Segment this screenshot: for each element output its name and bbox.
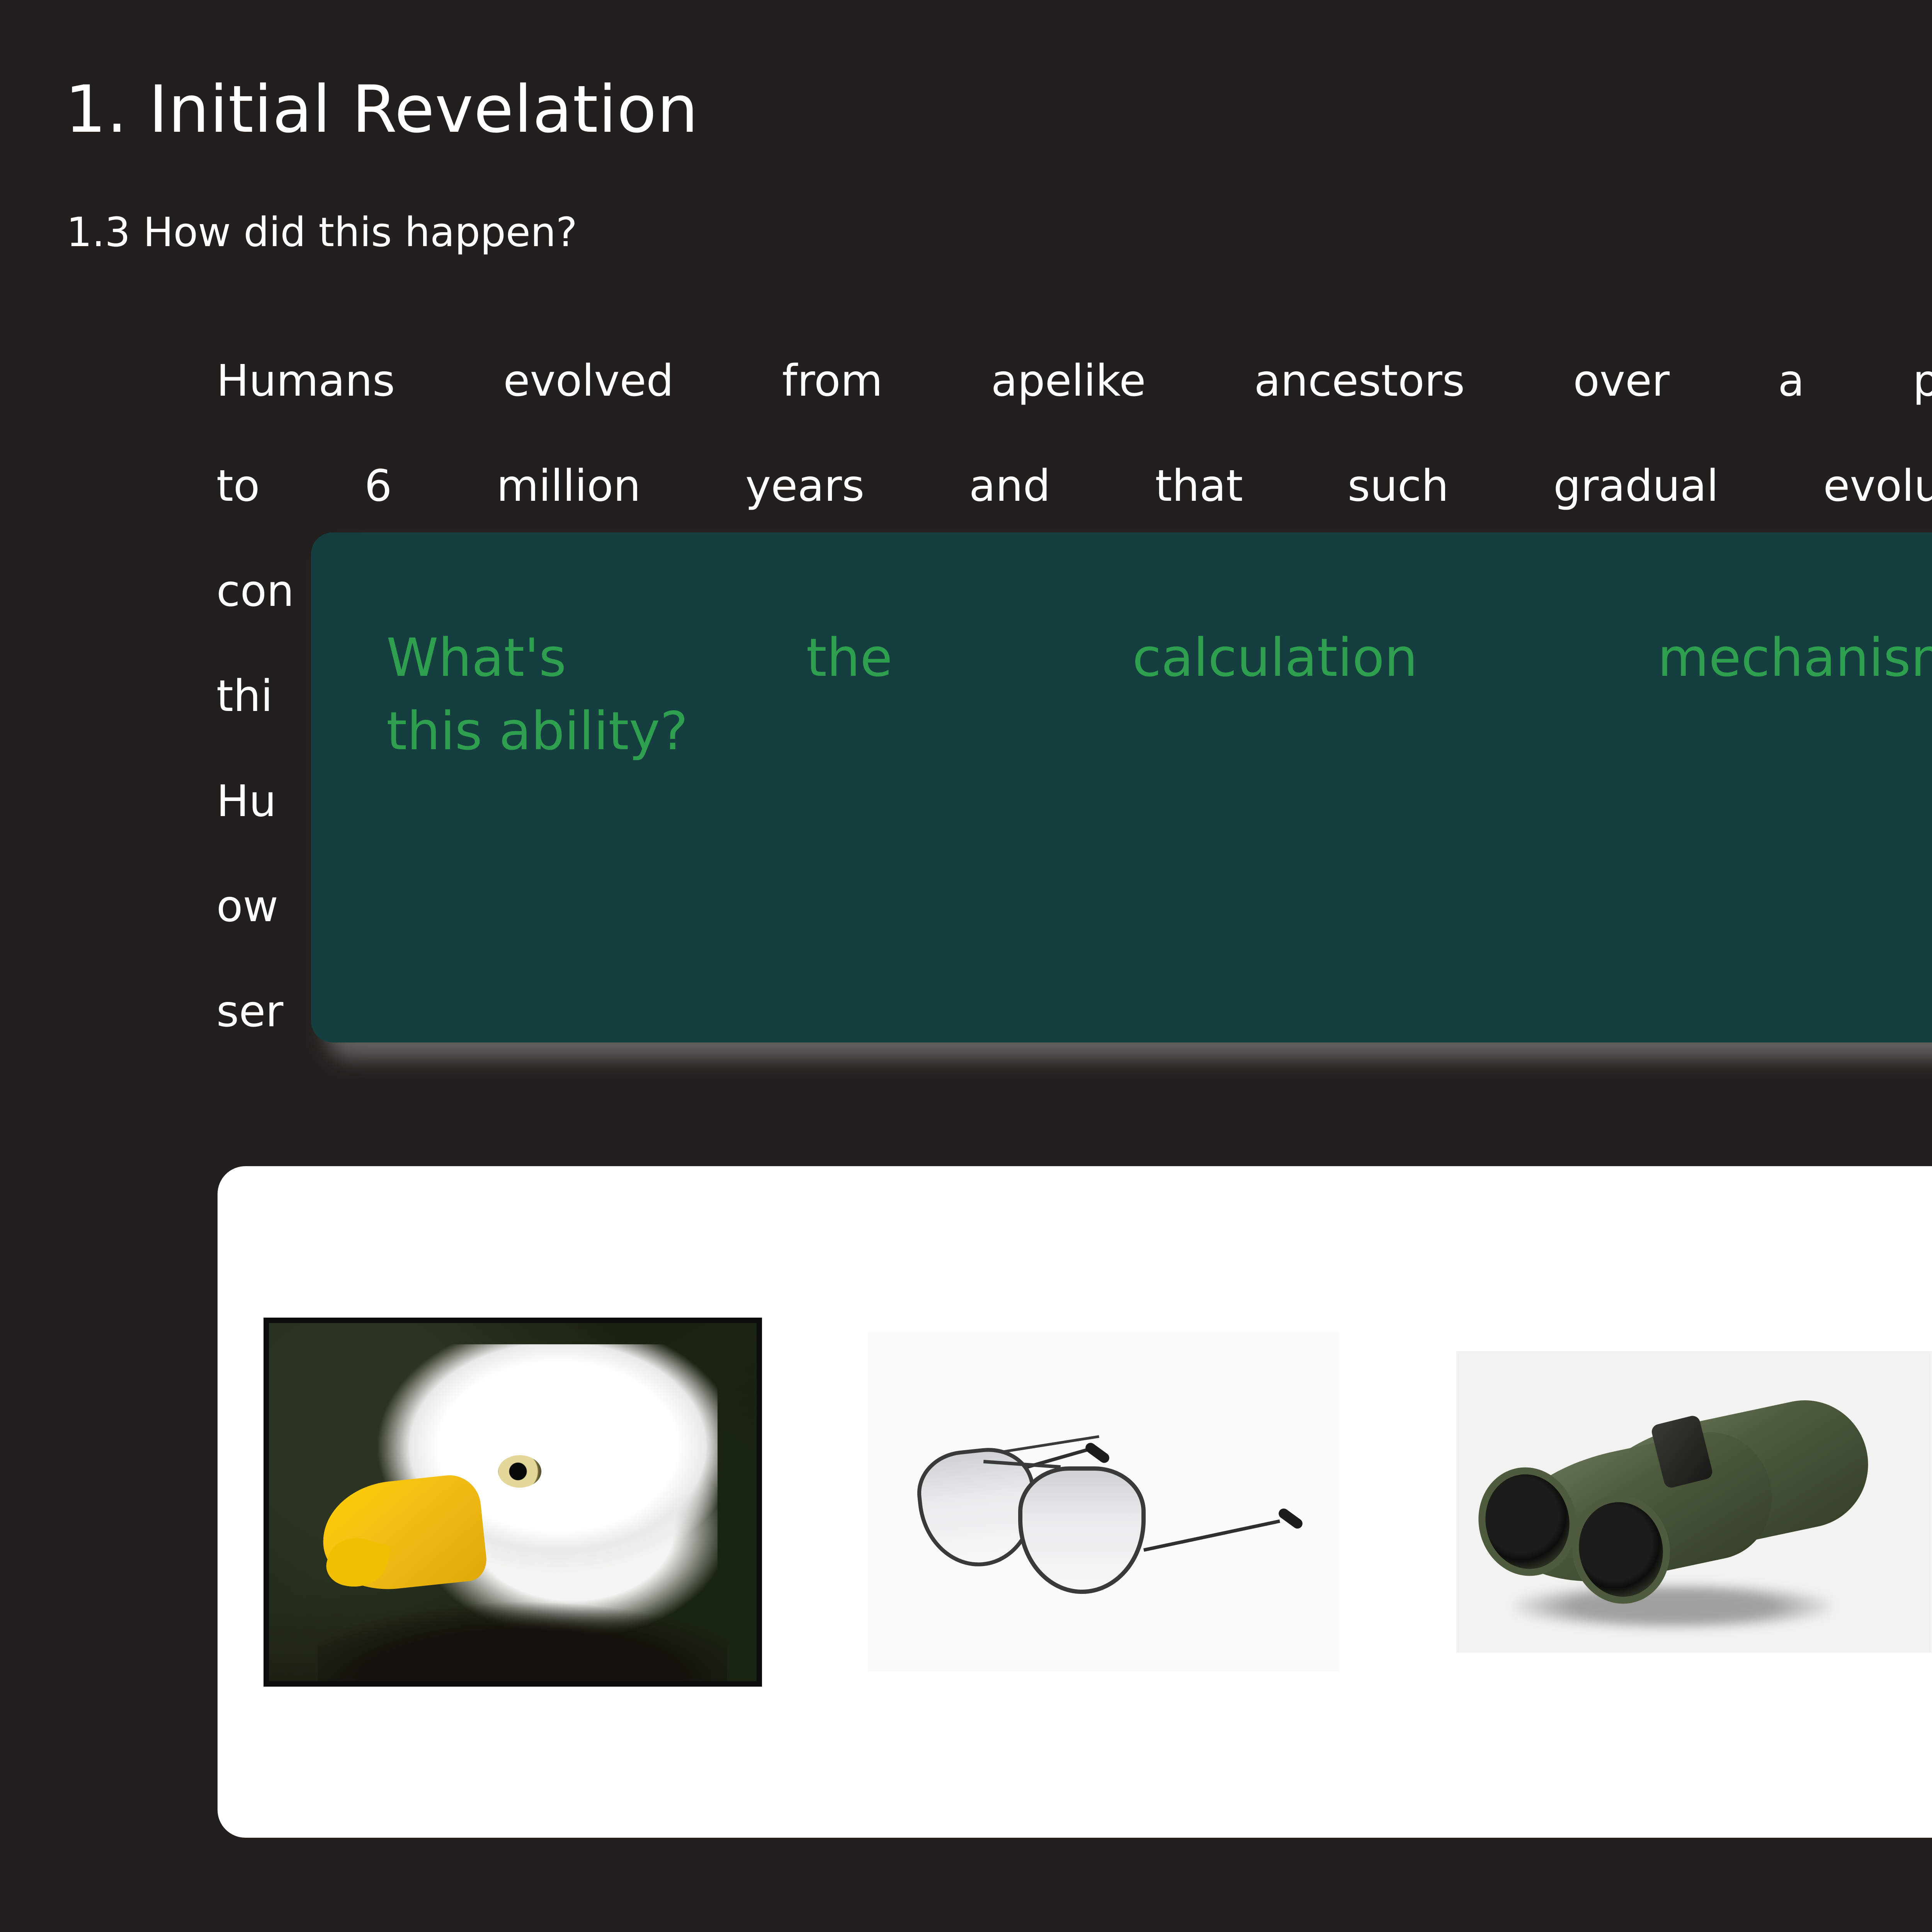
callout-box: What's the calculation mechanism behind …: [311, 532, 1932, 1043]
word: Humans: [216, 328, 395, 434]
eagle-body-dark: [318, 1588, 727, 1681]
image-cell-binoculars: [1399, 1166, 1932, 1838]
image-cell-eagle: [218, 1166, 808, 1838]
word: over: [1573, 328, 1670, 434]
callout-line-1: What's the calculation mechanism behind: [386, 621, 1932, 695]
callout-text: What's the calculation mechanism behind …: [386, 621, 1932, 768]
line-fragment-left: ow: [216, 854, 278, 959]
word: years: [745, 434, 864, 539]
word: evolutionary: [1823, 434, 1932, 539]
sunglasses-lens-right: [1018, 1466, 1146, 1594]
binoculars-shadow: [1514, 1583, 1831, 1629]
word: that: [1155, 434, 1243, 539]
word: period: [1913, 328, 1932, 434]
page-subtitle: 1.3 How did this happen?: [66, 209, 577, 256]
word: and: [969, 434, 1051, 539]
line-fragment-left: ser: [216, 986, 283, 1037]
paragraph-line-2: to 6 million years and that such gradual…: [216, 434, 1932, 539]
image-panel: [218, 1166, 1932, 1838]
paragraph-line-1: Humans evolved from apelike ancestors ov…: [216, 328, 1932, 434]
word: from: [782, 328, 883, 434]
word: calculation: [1132, 621, 1418, 695]
word: such: [1347, 434, 1449, 539]
word: What's: [386, 621, 566, 695]
image-cell-sunglasses: [808, 1166, 1398, 1838]
sunglasses-temple-right: [1143, 1519, 1280, 1552]
line-fragment-left: con: [216, 539, 294, 644]
sunglasses-tip-left: [1083, 1441, 1111, 1465]
word: to: [216, 434, 260, 539]
aviator-sunglasses-photo: [867, 1332, 1339, 1672]
word: apelike: [991, 328, 1146, 434]
word: gradual: [1553, 434, 1719, 539]
bald-eagle-photo: [264, 1318, 762, 1687]
binoculars-photo: [1456, 1351, 1932, 1653]
word: million: [497, 434, 641, 539]
word: evolved: [503, 328, 674, 434]
line-fragment-left: Hu: [216, 749, 276, 854]
word: the: [806, 621, 892, 695]
word: mechanism: [1658, 621, 1932, 695]
callout-line-2: this ability?: [386, 695, 1932, 768]
sunglasses-tip-right: [1277, 1507, 1304, 1531]
word: a: [1778, 328, 1804, 434]
word: ancestors: [1254, 328, 1465, 434]
line-fragment-left: thi: [216, 644, 273, 749]
word: 6: [364, 434, 392, 539]
page-title: 1. Initial Revelation: [65, 71, 699, 147]
